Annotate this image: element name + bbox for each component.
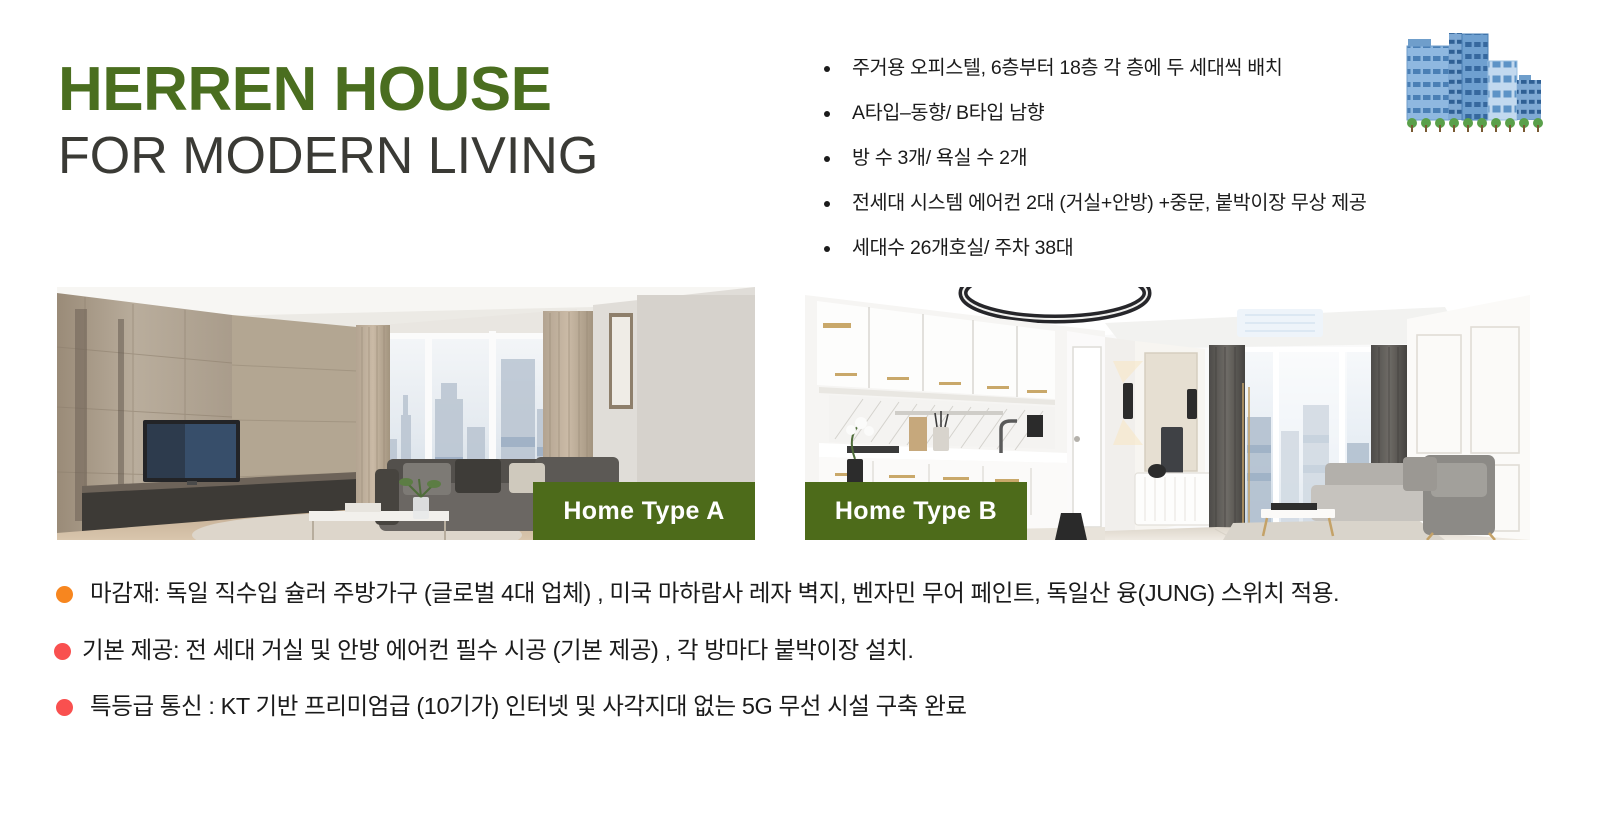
feature-list-item-label: 특등급 통신 : KT 기반 프리미엄급 (10기가) 인터넷 및 사각지대 없…: [90, 693, 967, 719]
orange-bullet-icon: [56, 586, 73, 603]
bullet-dot-icon: [824, 246, 830, 252]
home-type-b-photo[interactable]: Home Type B: [805, 287, 1530, 540]
red-bullet-icon: [54, 643, 71, 660]
home-type-b-badge: Home Type B: [805, 482, 1027, 540]
spec-list-item-label: 세대수 26개호실/ 주차 38대: [852, 237, 1073, 259]
home-type-a-badge: Home Type A: [533, 482, 755, 540]
city-buildings-icon: [1392, 28, 1544, 136]
specification-list: 주거용 오피스텔, 6층부터 18층 각 층에 두 세대씩 배치 A타입–동향/…: [818, 56, 1438, 281]
spec-list-item: 주거용 오피스텔, 6층부터 18층 각 층에 두 세대씩 배치: [818, 56, 1438, 82]
spec-list-item: 방 수 3개/ 욕실 수 2개: [818, 146, 1438, 172]
home-type-a-badge-label: Home Type A: [563, 497, 724, 526]
home-type-a-photo[interactable]: Home Type A: [57, 287, 755, 540]
feature-list-item: 특등급 통신 : KT 기반 프리미엄급 (10기가) 인터넷 및 사각지대 없…: [52, 691, 1552, 722]
feature-list-item-label: 기본 제공: 전 세대 거실 및 안방 에어컨 필수 시공 (기본 제공) , …: [82, 637, 914, 663]
home-type-b-badge-label: Home Type B: [835, 497, 997, 526]
spec-list-item: 세대수 26개호실/ 주차 38대: [818, 236, 1438, 262]
page-subtitle: FOR MODERN LIVING: [58, 127, 598, 187]
spec-list-item-label: 방 수 3개/ 욕실 수 2개: [852, 147, 1027, 169]
page-title: HERREN HOUSE: [58, 58, 598, 121]
spec-list-item-label: 전세대 시스템 에어컨 2대 (거실+안방) +중문, 붙박이장 무상 제공: [852, 192, 1367, 214]
feature-list-item: 기본 제공: 전 세대 거실 및 안방 에어컨 필수 시공 (기본 제공) , …: [52, 635, 1552, 666]
spec-list-item-label: 주거용 오피스텔, 6층부터 18층 각 층에 두 세대씩 배치: [852, 57, 1283, 79]
bullet-dot-icon: [824, 201, 830, 207]
spec-list-item: 전세대 시스템 에어컨 2대 (거실+안방) +중문, 붙박이장 무상 제공: [818, 191, 1438, 217]
feature-list: 마감재: 독일 직수입 슐러 주방가구 (글로벌 4대 업체) , 미국 마하람…: [52, 578, 1552, 748]
brand-block: HERREN HOUSE FOR MODERN LIVING: [58, 58, 598, 187]
feature-list-item: 마감재: 독일 직수입 슐러 주방가구 (글로벌 4대 업체) , 미국 마하람…: [52, 578, 1552, 609]
bullet-dot-icon: [824, 66, 830, 72]
bullet-dot-icon: [824, 156, 830, 162]
red-bullet-icon: [56, 699, 73, 716]
spec-list-item-label: A타입–동향/ B타입 남향: [852, 102, 1044, 124]
spec-list-item: A타입–동향/ B타입 남향: [818, 101, 1438, 127]
bullet-dot-icon: [824, 111, 830, 117]
feature-list-item-label: 마감재: 독일 직수입 슐러 주방가구 (글로벌 4대 업체) , 미국 마하람…: [90, 580, 1339, 606]
